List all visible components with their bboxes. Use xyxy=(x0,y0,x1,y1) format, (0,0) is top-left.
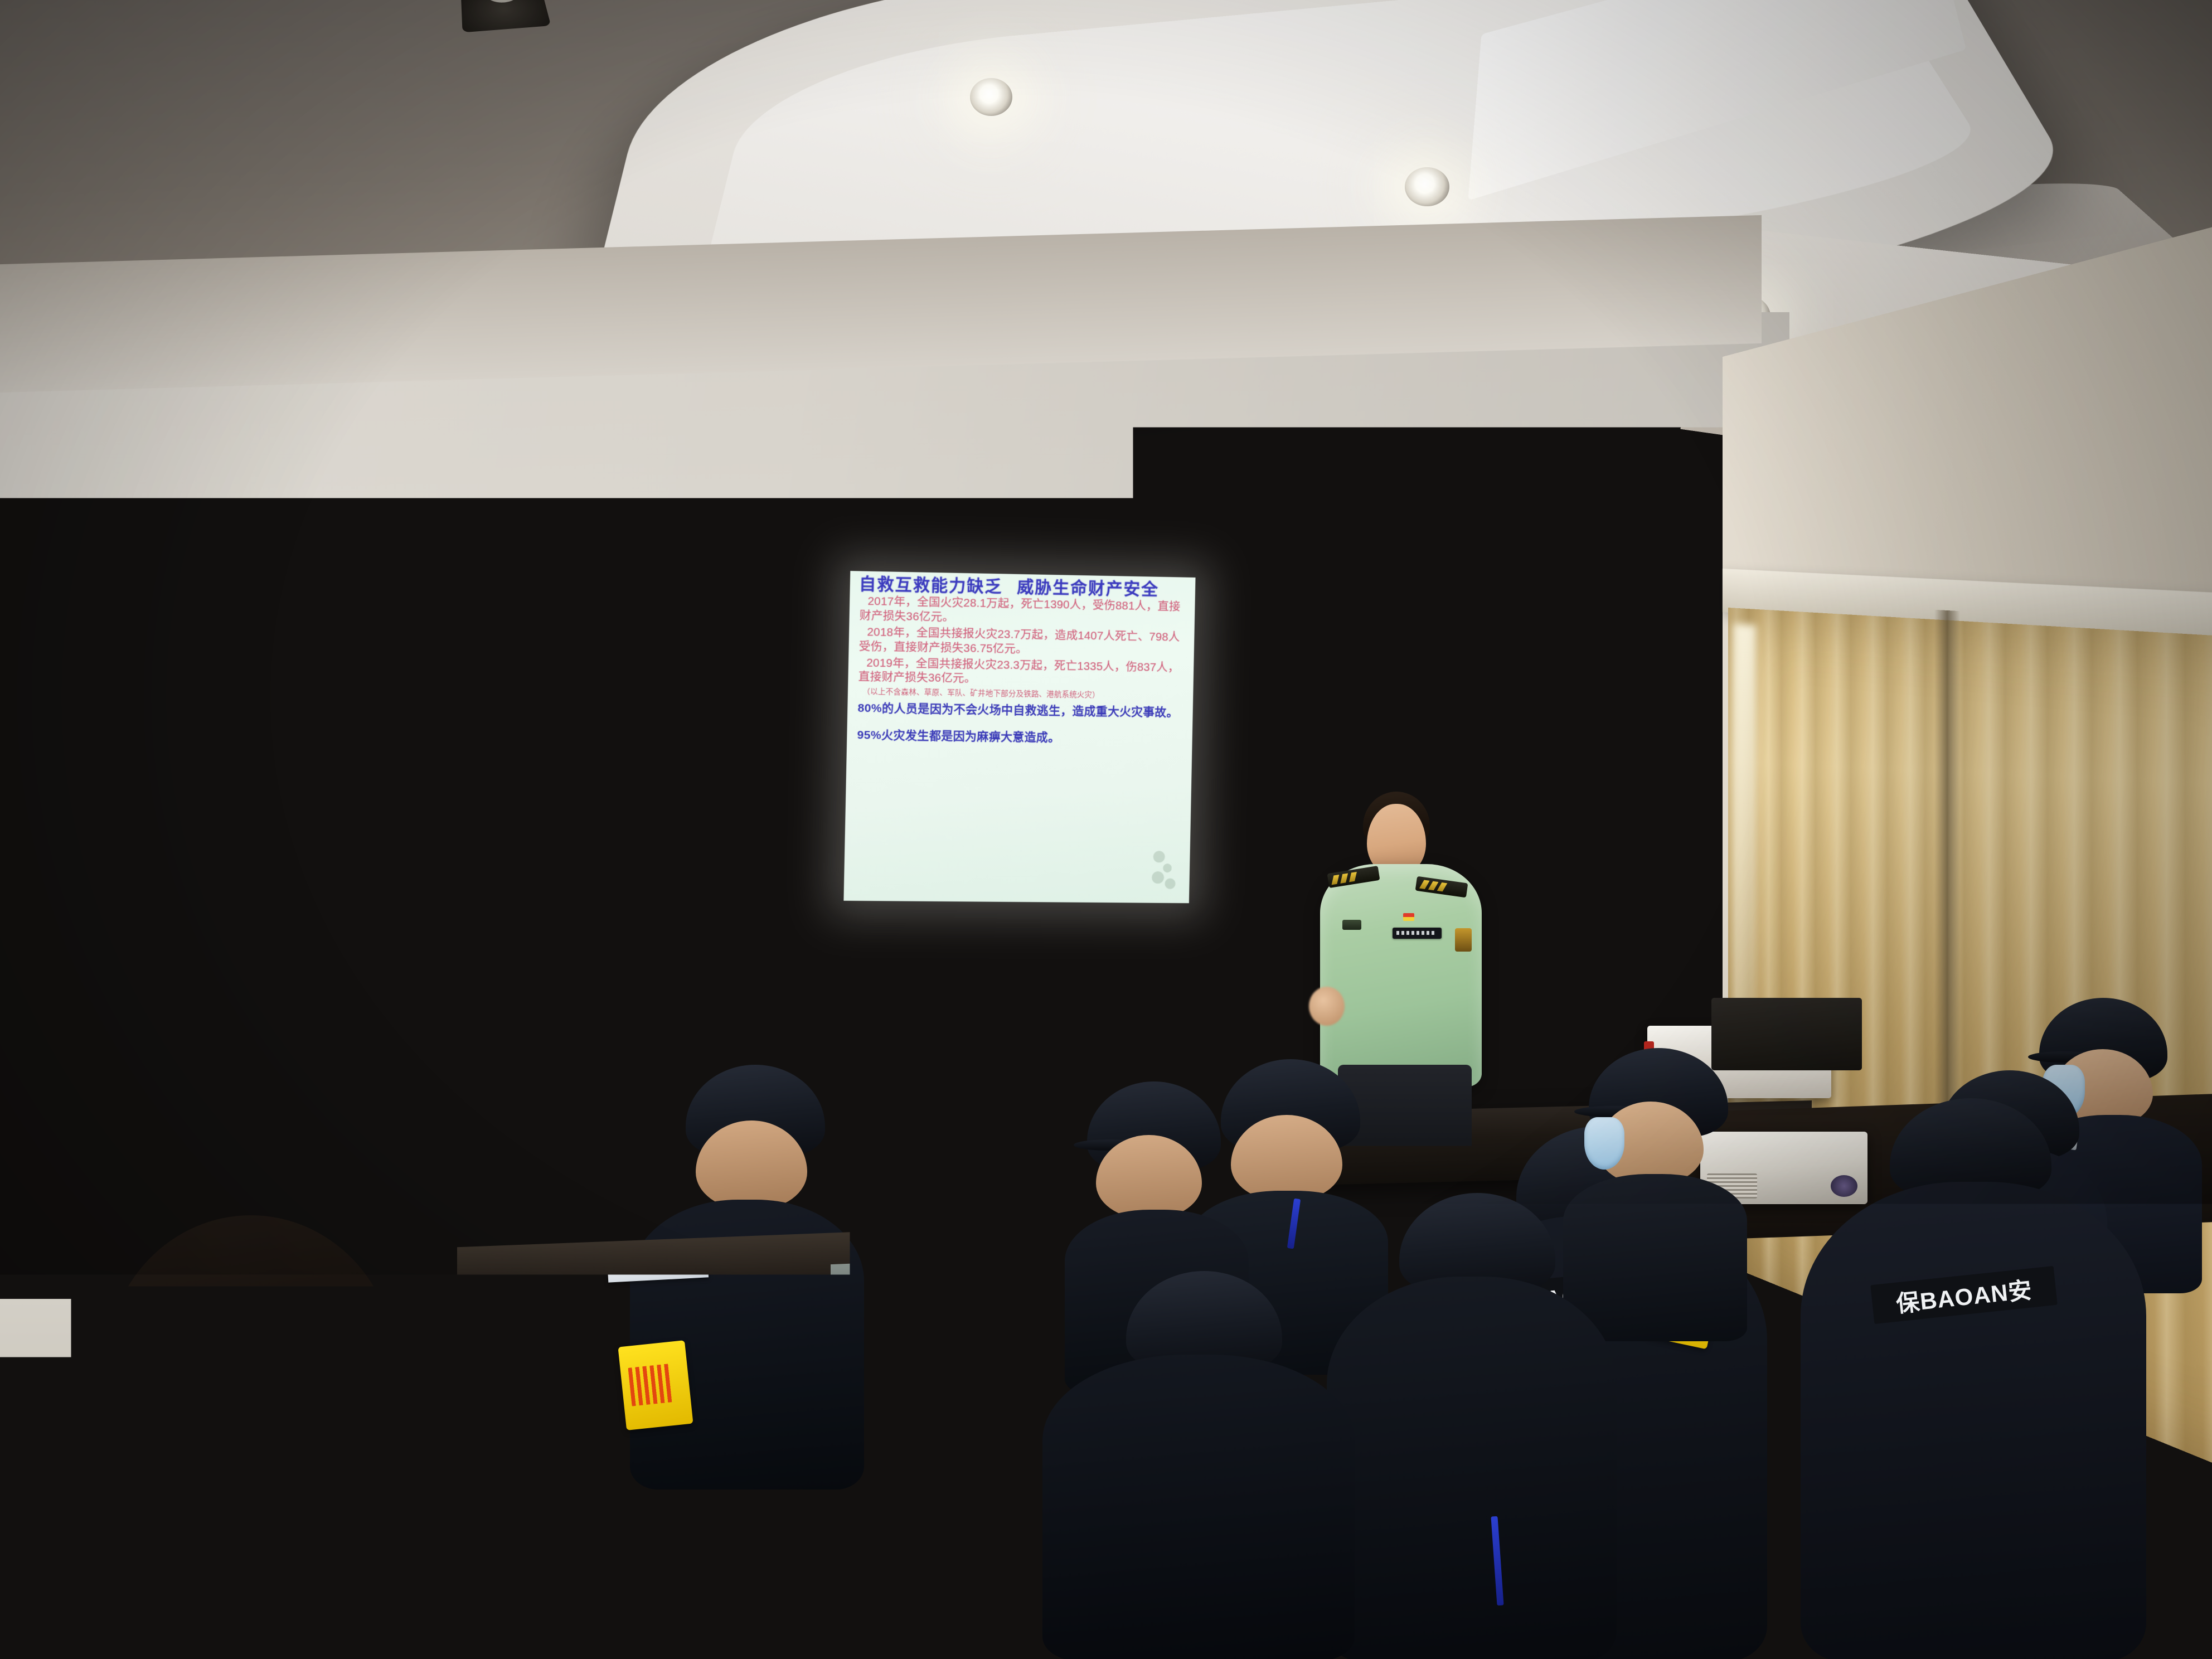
attendee-security-guard: 保BAOAN安 xyxy=(1801,1120,2146,1659)
presenter-hand xyxy=(1309,987,1345,1026)
downlight-icon xyxy=(1405,167,1449,206)
attendee-foreground xyxy=(61,1215,485,1659)
presenter-uniform-shirt xyxy=(1320,864,1482,1087)
presenter-collar-badge xyxy=(1342,920,1361,930)
attendee-torso xyxy=(1801,1182,2146,1659)
attendee-torso xyxy=(61,1455,485,1659)
presenter-flag-pin-icon xyxy=(1403,913,1414,921)
slide-highlight-80: 80%的人员是因为不会火场中自救逃生，造成重大火灾事故。 xyxy=(857,701,1185,720)
presenter-arm-patch xyxy=(1455,928,1472,952)
slide-paragraph-2017: 2017年，全国火灾28.1万起，死亡1390人，受伤881人，直接财产损失36… xyxy=(860,594,1187,629)
downlight-icon xyxy=(970,78,1012,116)
face-mask xyxy=(1584,1117,1624,1170)
slide-paragraph-2019: 2019年，全国共接报火灾23.3万起，死亡1335人，伤837人，直接财产损失… xyxy=(858,656,1186,690)
slide-paragraph-2018: 2018年，全国共接报火灾23.7万起，造成1407人死亡、798人受伤，直接财… xyxy=(859,625,1187,659)
slide-watermark-icon xyxy=(1143,846,1182,890)
meeting-room-scene: 自救互救能力缺乏威胁生命财产安全 2017年，全国火灾28.1万起，死亡1390… xyxy=(0,0,2212,1659)
presenter-nametag xyxy=(1393,928,1442,939)
slide-footnote: （以上不含森林、草原、军队、矿井地下部分及铁路、港航系统火灾） xyxy=(862,687,1186,701)
projected-slide: 自救互救能力缺乏威胁生命财产安全 2017年，全国火灾28.1万起，死亡1390… xyxy=(843,571,1195,903)
screen-glow-desk xyxy=(831,1255,1065,1331)
slide-highlight-95: 95%火灾发生都是因为麻痹大意造成。 xyxy=(857,728,1185,747)
slide-title-left: 自救互救能力缺乏 xyxy=(859,575,1003,596)
front-desk xyxy=(479,1277,1427,1659)
slide-title-right: 威胁生命财产安全 xyxy=(1017,578,1159,599)
